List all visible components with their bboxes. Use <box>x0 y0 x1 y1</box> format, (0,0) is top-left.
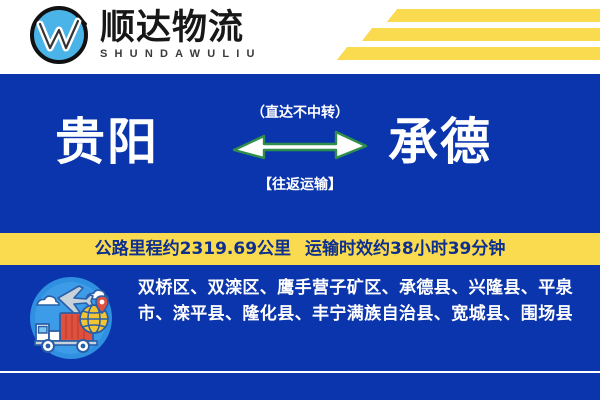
coverage-district-list: 双桥区、双滦区、鹰手营子矿区、承德县、兴隆县、平泉市、滦平县、隆化县、丰宁满族自… <box>138 275 580 327</box>
route-info-text: 公路里程约2319.69公里运输时效约38小时39分钟 <box>95 239 506 259</box>
stripe-top <box>387 9 600 22</box>
banner-footer <box>0 373 600 400</box>
route-section: 贵阳 （直达不中转） 【往返运输】 承德 <box>0 78 600 232</box>
swoosh-circle-logo-icon <box>28 4 90 66</box>
origin-city: 贵阳 <box>55 112 159 172</box>
banner-header: 顺达物流 SHUNDAWULIU <box>0 0 600 74</box>
brand-wordmark: 顺达物流 SHUNDAWULIU <box>100 9 262 61</box>
coverage-section: 双桥区、双滦区、鹰手营子矿区、承德县、兴隆县、平泉市、滦平县、隆化县、丰宁满族自… <box>0 265 600 371</box>
route-arrow-block: （直达不中转） 【往返运输】 <box>224 104 376 216</box>
destination-city: 承德 <box>388 112 492 172</box>
brand-logo: 顺达物流 SHUNDAWULIU <box>28 4 262 66</box>
logistics-route-banner: 顺达物流 SHUNDAWULIU 贵阳 （直达不中转） 【往返运输】 承德 公 <box>0 0 600 400</box>
route-info-bar: 公路里程约2319.69公里运输时效约38小时39分钟 <box>0 233 600 265</box>
yellow-speed-stripes-icon <box>340 0 600 74</box>
brand-name-en: SHUNDAWULIU <box>100 48 262 61</box>
stripe-middle <box>362 28 600 41</box>
brand-name-cn: 顺达物流 <box>100 9 262 47</box>
truck-plane-globe-logistics-icon <box>23 274 119 362</box>
duration-value: 运输时效约38小时39分钟 <box>305 239 505 259</box>
stripe-bottom <box>337 47 600 60</box>
route-note-direct: （直达不中转） <box>251 104 349 122</box>
double-headed-arrow-icon <box>230 125 370 170</box>
route-note-roundtrip: 【往返运输】 <box>258 176 342 194</box>
distance-value: 公路里程约2319.69公里 <box>95 239 291 259</box>
